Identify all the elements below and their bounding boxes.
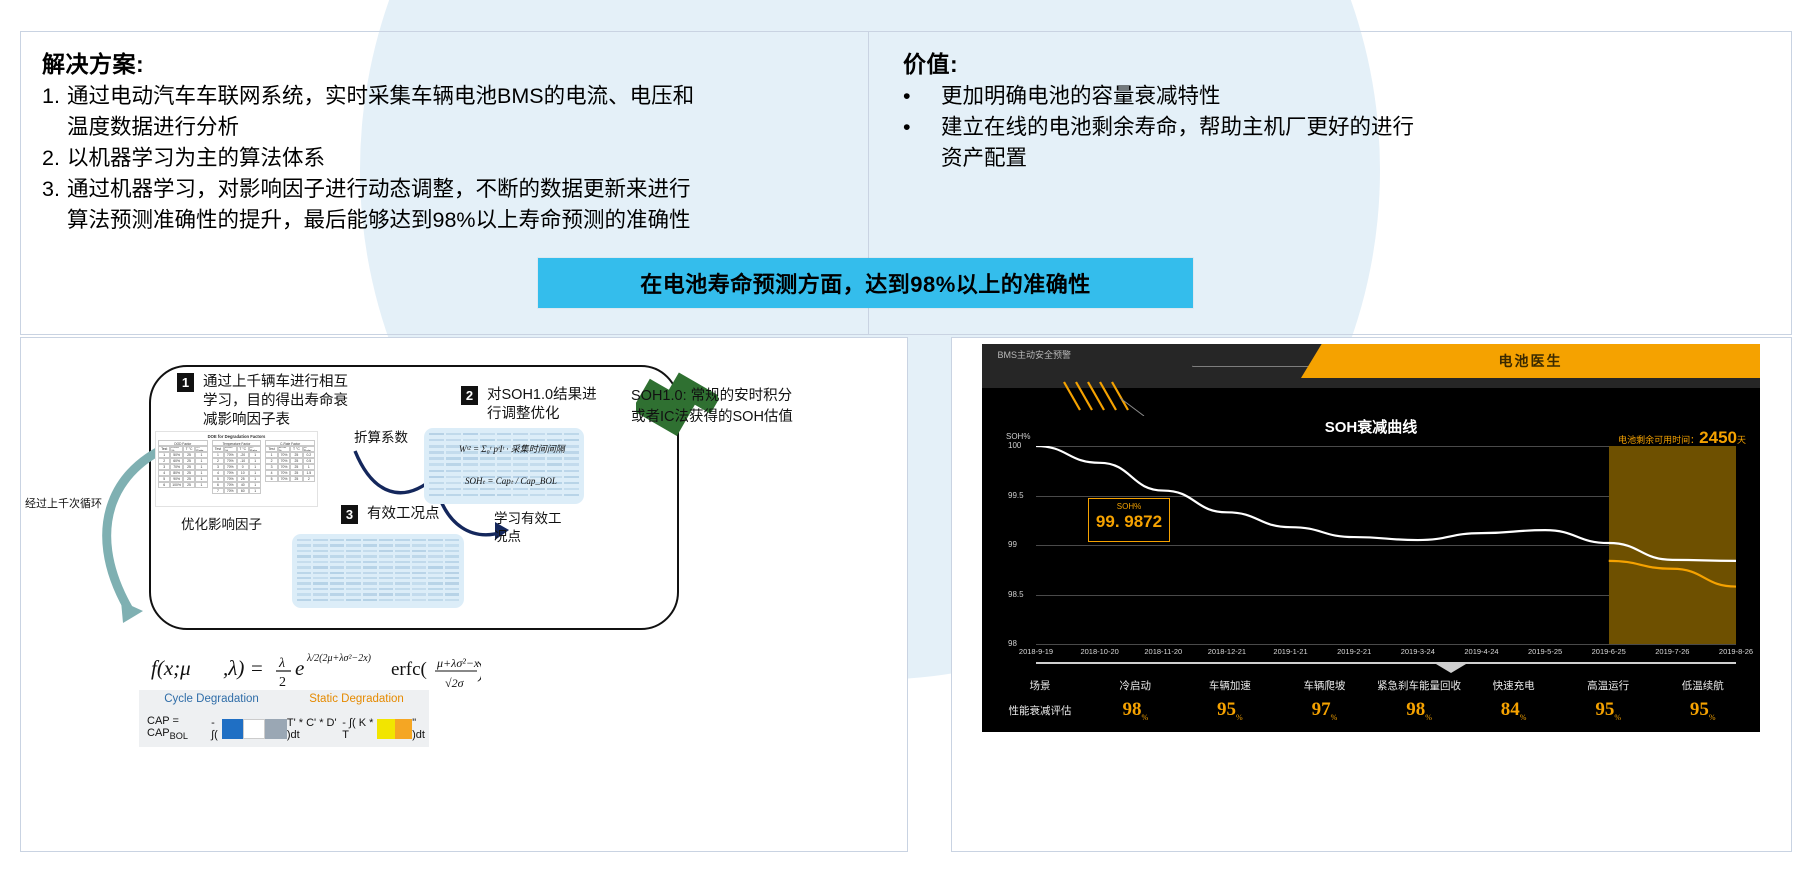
grid-cell <box>547 470 562 472</box>
step-text: 对SOH1.0结果进 行调整优化 <box>487 386 597 424</box>
table-cell: 98% <box>1372 697 1467 722</box>
grid-cell <box>297 599 311 601</box>
grid-cell <box>379 561 393 563</box>
table-header-cell: 紧急刹车能量回收 <box>1372 674 1467 697</box>
label-learn-points: 学习有效工 况点 <box>494 510 562 546</box>
table-value-row: 性能衰减评估98%95%97%98%84%95%95% <box>992 697 1750 722</box>
grid-cell <box>297 572 311 574</box>
line: 或者IC法获得的SOH估值 <box>631 409 793 425</box>
grid-cell <box>395 593 409 595</box>
grid-cell <box>297 566 311 568</box>
grid-cell <box>513 470 528 472</box>
grid-cell <box>346 550 360 552</box>
soh-decay-plot: SOH% 10099.59998.598 SOH% 99. 9872 <box>1036 446 1736 644</box>
line: SOH1.0: 常规的安时积分 <box>631 388 792 404</box>
grid-cell <box>429 470 444 472</box>
grid-cell <box>446 433 461 435</box>
grid-cell <box>379 582 393 584</box>
table-header-cell: 高温运行 <box>1561 674 1656 697</box>
grid-cell <box>346 539 360 541</box>
grid-cell <box>379 572 393 574</box>
tooltip-value: 99. 9872 <box>1089 511 1169 533</box>
grid-cell <box>530 463 545 465</box>
table-body: DOD FactorTestDOD %T °CC-Rate150%251260%… <box>156 439 317 495</box>
line: 通过电动汽车车联网系统，实时采集车辆电池BMS的电流、电压和 <box>67 84 694 108</box>
grid-cell <box>313 566 327 568</box>
label-soh10-note: SOH1.0: 常规的安时积分 或者IC法获得的SOH估值 <box>631 386 793 428</box>
grid-cell <box>429 445 444 447</box>
grid-cell <box>313 572 327 574</box>
table-cell: 60 <box>237 488 249 494</box>
grid-cell <box>363 582 377 584</box>
grid-cell <box>429 451 444 453</box>
table-row: 770%601 <box>212 488 262 494</box>
remaining-unit: 天 <box>1737 435 1746 445</box>
grid-cell <box>429 494 444 496</box>
grid-cell <box>428 577 442 579</box>
grid-cell <box>428 555 442 557</box>
table-cell: 100% <box>170 482 182 488</box>
solution-list: 1. 通过电动汽车车联网系统，实时采集车辆电池BMS的电流、电压和 温度数据进行… <box>42 81 868 236</box>
x-tick-label: 2019-5-25 <box>1528 647 1562 656</box>
value-column: 价值: • 更加明确电池的容量衰减特性 • 建立在线的电池剩余寿命，帮助主机厂更… <box>869 32 1793 174</box>
table-row <box>297 539 459 543</box>
score-unit: % <box>1614 713 1621 722</box>
grid-cell <box>445 582 459 584</box>
grid-cell <box>428 593 442 595</box>
series-line <box>1609 561 1736 587</box>
score-unit: % <box>1709 713 1716 722</box>
grid-cell <box>313 582 327 584</box>
grid-cell <box>480 463 495 465</box>
bullet-icon: • <box>903 112 941 174</box>
label-loop-count: 经过上千次循环 <box>25 495 102 511</box>
grid-cell <box>446 494 461 496</box>
line: 温度数据进行分析 <box>67 115 239 139</box>
grid-cell <box>513 433 528 435</box>
grid-cell <box>564 494 579 496</box>
decorative-stripes-icon <box>1060 380 1170 416</box>
score-unit: % <box>1141 713 1148 722</box>
grid-cell <box>445 550 459 552</box>
svg-text:μ+λσ²−x: μ+λσ²−x <box>436 656 480 670</box>
cap-prefix: CAP = CAPBOL <box>139 715 211 741</box>
table-cell: 7 <box>212 488 224 494</box>
grid-cell <box>330 539 344 541</box>
score-value: 98 <box>1406 699 1425 720</box>
dashboard-panel: 电池全局数据 BMS主动安全预警 BMS系统参数分析 电池医生 SOH衰减曲线 … <box>951 337 1792 852</box>
line: 学习有效工 <box>494 511 562 526</box>
grid-cell <box>395 588 409 590</box>
svg-text:λ/2(2μ+λσ²−2x): λ/2(2μ+λσ²−2x) <box>306 653 372 664</box>
x-tick-label: 2019-1-21 <box>1273 647 1307 656</box>
grid-cell <box>480 488 495 490</box>
table-row <box>297 544 459 548</box>
subscript: BOL <box>170 732 188 742</box>
grid-cell <box>429 439 444 441</box>
grid-cell <box>297 544 311 546</box>
soh-tooltip: SOH% 99. 9872 <box>1088 498 1170 542</box>
grid-cell <box>446 463 461 465</box>
grid-cell <box>297 539 311 541</box>
grid-cell <box>363 550 377 552</box>
grid-cell <box>330 550 344 552</box>
swatch-blue <box>222 719 242 739</box>
line: 对SOH1.0结果进 <box>487 387 597 403</box>
cap-t1: T' * C' * D' )dt <box>287 717 342 741</box>
table-cell: 95% <box>1183 697 1278 722</box>
grid-cell <box>564 457 579 459</box>
x-tick-label: 2019-8-26 <box>1719 647 1753 656</box>
grid-cell <box>463 494 478 496</box>
grid-cell <box>363 544 377 546</box>
grid-cell <box>445 539 459 541</box>
gridline <box>1036 644 1736 645</box>
grid-cell <box>346 593 360 595</box>
grid-cell <box>297 582 311 584</box>
x-axis-notch <box>1036 662 1736 674</box>
score-value: 95 <box>1595 699 1614 720</box>
list-text: 建立在线的电池剩余寿命，帮助主机厂更好的进行 资产配置 <box>941 112 1793 174</box>
grid-cell <box>379 593 393 595</box>
grid-cell <box>412 572 426 574</box>
grid-cell <box>330 544 344 546</box>
cap-mid: - ∫( <box>211 717 222 741</box>
grid-cell <box>297 577 311 579</box>
diagram-step-2: 2 对SOH1.0结果进 行调整优化 <box>461 386 597 424</box>
grid-cell <box>330 572 344 574</box>
x-tick-label: 2018-9-19 <box>1019 647 1053 656</box>
cap-t3: '' )dt <box>412 717 429 741</box>
grid-cell <box>445 544 459 546</box>
doe-factor-table: DOE for Degradation Factors DOD FactorTe… <box>155 431 318 507</box>
methodology-diagram-panel: 1 通过上千辆车进行相互 学习，目的得出寿命衰 减影响因子表 DOE for D… <box>20 337 908 852</box>
grid-cell <box>363 599 377 601</box>
grid-cell <box>429 463 444 465</box>
grid-cell <box>445 577 459 579</box>
grid-cell <box>313 539 327 541</box>
list-text: 通过机器学习，对影响因子进行动态调整，不断的数据更新来进行 算法预测准确性的提升… <box>67 174 868 236</box>
step-text: 通过上千辆车进行相互 学习，目的得出寿命衰 减影响因子表 <box>203 373 348 430</box>
grid-cell <box>363 555 377 557</box>
cycle-degradation-label: Cycle Degradation <box>139 690 284 710</box>
list-number: 2. <box>42 143 67 174</box>
table-cell: 1 <box>195 482 207 488</box>
step-text: 有效工况点 <box>367 505 440 524</box>
list-text: 以机器学习为主的算法体系 <box>67 143 868 174</box>
step-badge: 3 <box>341 505 358 524</box>
line: 算法预测准确性的提升，最后能够达到98%以上寿命预测的准确性 <box>67 208 691 232</box>
grid-cell <box>412 588 426 590</box>
grid-cell <box>395 555 409 557</box>
solution-title: 解决方案: <box>42 45 868 79</box>
table-row <box>297 577 459 581</box>
table-row <box>297 555 459 559</box>
table-row <box>297 582 459 586</box>
table-row <box>297 572 459 576</box>
banner-text: 在电池寿命预测方面，达到98%以上的准确性 <box>640 267 1091 299</box>
grid-cell <box>395 539 409 541</box>
step-badge: 2 <box>461 386 478 405</box>
x-tick-label: 2019-7-26 <box>1655 647 1689 656</box>
grid-cell <box>564 451 579 453</box>
grid-cell <box>480 470 495 472</box>
tab-battery-doctor[interactable]: 电池医生 <box>1301 344 1760 378</box>
list-number: 3. <box>42 174 67 236</box>
table-caption: DOE for Degradation Factors <box>156 432 317 439</box>
cap-headers: Cycle Degradation Static Degradation <box>139 690 429 710</box>
value-list: • 更加明确电池的容量衰减特性 • 建立在线的电池剩余寿命，帮助主机厂更好的进行… <box>903 81 1793 174</box>
grid-cell <box>445 599 459 601</box>
score-unit: % <box>1520 713 1527 722</box>
cap-degradation-formula: Cycle Degradation Static Degradation CAP… <box>139 690 429 747</box>
grid-cell <box>395 561 409 563</box>
y-tick-label: 99 <box>1008 540 1017 549</box>
x-tick-label: 2018-11-20 <box>1144 647 1182 656</box>
table-cell: 70% <box>278 476 290 482</box>
grid-cell <box>445 593 459 595</box>
data-grid <box>297 539 459 603</box>
soh-calc-panel <box>424 428 584 504</box>
table-row <box>297 561 459 565</box>
line: 况点 <box>494 529 521 544</box>
grid-cell <box>346 588 360 590</box>
grid-cell <box>313 577 327 579</box>
diagram-canvas: 1 通过上千辆车进行相互 学习，目的得出寿命衰 减影响因子表 DOE for D… <box>21 338 907 851</box>
grid-cell <box>429 488 444 490</box>
grid-cell <box>346 566 360 568</box>
grid-cell <box>547 433 562 435</box>
grid-cell <box>497 457 512 459</box>
grid-cell <box>297 550 311 552</box>
y-tick-label: 98 <box>1008 639 1017 648</box>
grid-cell <box>530 470 545 472</box>
bullet-icon: • <box>903 81 941 112</box>
grid-cell <box>513 494 528 496</box>
score-unit: % <box>1425 713 1432 722</box>
grid-cell <box>530 433 545 435</box>
svg-text:f(x;μ: f(x;μ <box>151 656 191 680</box>
grid-cell <box>564 488 579 490</box>
grid-cell <box>330 599 344 601</box>
grid-cell <box>428 550 442 552</box>
grid-cell <box>379 577 393 579</box>
grid-cell <box>395 544 409 546</box>
table-group: C-Rate FactorTestDOD %T °CC-Rate170%250.… <box>265 440 315 494</box>
grid-cell <box>428 561 442 563</box>
table-row <box>429 470 579 475</box>
highlight-banner: 在电池寿命预测方面，达到98%以上的准确性 <box>538 258 1193 308</box>
grid-cell <box>564 470 579 472</box>
grid-cell <box>313 593 327 595</box>
grid-cell <box>547 494 562 496</box>
grid-cell <box>445 566 459 568</box>
list-item: 1. 通过电动汽车车联网系统，实时采集车辆电池BMS的电流、电压和 温度数据进行… <box>42 81 868 143</box>
grid-cell <box>412 582 426 584</box>
line: 行调整优化 <box>487 406 560 422</box>
grid-cell <box>330 577 344 579</box>
table-cell: 98% <box>1088 697 1183 722</box>
value-title: 价值: <box>903 45 1793 79</box>
table-row <box>297 599 459 603</box>
grid-cell <box>530 457 545 459</box>
table-row: 6100%251 <box>158 482 208 488</box>
line: 减影响因子表 <box>203 412 290 428</box>
grid-cell <box>363 561 377 563</box>
grid-cell <box>395 582 409 584</box>
grid-cell <box>412 566 426 568</box>
table-row-label: 性能衰减评估 <box>992 697 1088 722</box>
grid-cell <box>297 588 311 590</box>
table-row-label: 场景 <box>992 674 1088 697</box>
table-cell: 95% <box>1561 697 1656 722</box>
grid-cell <box>513 457 528 459</box>
grid-cell <box>412 577 426 579</box>
grid-cell <box>313 599 327 601</box>
swatch-gray <box>265 719 287 739</box>
grid-cell <box>428 572 442 574</box>
cap-formula-row: CAP = CAPBOL - ∫( T' * C' * D' )dt - ∫( … <box>139 710 429 747</box>
line: 资产配置 <box>941 146 1027 170</box>
grid-cell <box>297 561 311 563</box>
table-row <box>297 593 459 597</box>
grid-cell <box>363 577 377 579</box>
grid-cell <box>497 433 512 435</box>
grid-cell <box>513 463 528 465</box>
score-value: 95 <box>1690 699 1709 720</box>
list-text: 更加明确电池的容量衰减特性 <box>941 81 1793 112</box>
table-row <box>429 494 579 499</box>
grid-cell <box>530 488 545 490</box>
cap-t2: - ∫( K * T <box>342 717 376 741</box>
grid-cell <box>412 550 426 552</box>
grid-cell <box>446 457 461 459</box>
grid-cell <box>463 488 478 490</box>
solution-column: 解决方案: 1. 通过电动汽车车联网系统，实时采集车辆电池BMS的电流、电压和 … <box>21 32 868 236</box>
table-cell: 84% <box>1466 697 1561 722</box>
grid-cell <box>395 550 409 552</box>
grid-cell <box>379 555 393 557</box>
table-header-cell: 快速充电 <box>1466 674 1561 697</box>
grid-cell <box>363 572 377 574</box>
x-tick-label: 2019-4-24 <box>1464 647 1498 656</box>
grid-cell <box>446 476 461 478</box>
score-value: 98 <box>1122 699 1141 720</box>
grid-cell <box>330 555 344 557</box>
grid-cell <box>480 494 495 496</box>
grid-cell <box>446 488 461 490</box>
y-axis-title: SOH% <box>1006 432 1030 441</box>
x-tick-label: 2019-3-24 <box>1401 647 1435 656</box>
table-row: 570%252 <box>265 476 315 482</box>
grid-cell <box>379 550 393 552</box>
score-unit: % <box>1331 713 1338 722</box>
diagram-step-3: 3 有效工况点 <box>341 505 440 524</box>
svg-text:√2σ: √2σ <box>445 676 465 690</box>
grid-cell <box>395 566 409 568</box>
grid-cell <box>395 572 409 574</box>
score-unit: % <box>1236 713 1243 722</box>
score-value: 95 <box>1217 699 1236 720</box>
y-tick-label: 99.5 <box>1008 491 1024 500</box>
table-header-cell: 低温续航 <box>1655 674 1750 697</box>
grid-cell <box>346 582 360 584</box>
list-item: • 更加明确电池的容量衰减特性 <box>903 81 1793 112</box>
y-tick-label: 100 <box>1008 441 1021 450</box>
grid-cell <box>297 593 311 595</box>
grid-cell <box>513 488 528 490</box>
soh-formula: SOHₜ = Capₜ / Cap_BOL <box>465 476 557 487</box>
line: 通过机器学习，对影响因子进行动态调整，不断的数据更新来进行 <box>67 177 691 201</box>
table-row <box>429 433 579 438</box>
table-cell: 6 <box>158 482 170 488</box>
grid-cell <box>547 457 562 459</box>
grid-cell <box>363 566 377 568</box>
table-row <box>297 588 459 592</box>
grid-cell <box>497 463 512 465</box>
grid-cell <box>330 561 344 563</box>
grid-cell <box>564 482 579 484</box>
tab-bms-safety[interactable]: BMS主动安全预警 <box>998 348 1072 361</box>
grid-cell <box>379 539 393 541</box>
list-item: • 建立在线的电池剩余寿命，帮助主机厂更好的进行 资产配置 <box>903 112 1793 174</box>
grid-cell <box>363 588 377 590</box>
grid-cell <box>446 470 461 472</box>
line: 学习，目的得出寿命衰 <box>203 393 348 409</box>
grid-cell <box>346 572 360 574</box>
grid-cell <box>564 445 579 447</box>
table-cell: 1 <box>249 488 261 494</box>
svg-text:λ: λ <box>278 656 285 671</box>
grid-cell <box>330 566 344 568</box>
table-header-row: 场景冷启动车辆加速车辆爬坡紧急刹车能量回收快速充电高温运行低温续航 <box>992 674 1750 697</box>
list-item: 2. 以机器学习为主的算法体系 <box>42 143 868 174</box>
grid-cell <box>530 494 545 496</box>
list-number: 1. <box>42 81 67 143</box>
grid-cell <box>480 457 495 459</box>
table-row <box>429 488 579 493</box>
table-cell: 5 <box>265 476 277 482</box>
grid-cell <box>463 470 478 472</box>
grid-cell <box>330 588 344 590</box>
grid-cell <box>564 463 579 465</box>
table-cell: 25 <box>183 482 195 488</box>
grid-cell <box>346 561 360 563</box>
grid-cell <box>446 482 461 484</box>
grid-cell <box>346 599 360 601</box>
grid-cell <box>412 555 426 557</box>
grid-cell <box>428 588 442 590</box>
grid-cell <box>395 577 409 579</box>
grid-cell <box>445 572 459 574</box>
grid-cell <box>480 433 495 435</box>
table-cell: 2 <box>303 476 315 482</box>
weight-formula: Wᵗ² = Σ₀ᵗ pᵗIᵗ · 采集时间间隔 <box>459 442 565 455</box>
grid-cell <box>313 544 327 546</box>
x-axis-labels: 2018-9-192018-10-202018-11-202018-12-212… <box>1036 647 1736 663</box>
list-text: 通过电动汽车车联网系统，实时采集车辆电池BMS的电流、电压和 温度数据进行分析 <box>67 81 868 143</box>
table-header-cell: 冷启动 <box>1088 674 1183 697</box>
scenario-assessment-table: 场景冷启动车辆加速车辆爬坡紧急刹车能量回收快速充电高温运行低温续航 性能衰减评估… <box>992 674 1750 730</box>
table-group: Temperature FactorTestDOD %T °CC-Rate170… <box>212 440 262 494</box>
grid-cell <box>463 433 478 435</box>
grid-cell <box>463 463 478 465</box>
grid-cell <box>346 555 360 557</box>
table-group: DOD FactorTestDOD %T °CC-Rate150%251260%… <box>158 440 208 494</box>
list-item: 3. 通过机器学习，对影响因子进行动态调整，不断的数据更新来进行 算法预测准确性… <box>42 174 868 236</box>
tooltip-label: SOH% <box>1089 499 1169 511</box>
line: 建立在线的电池剩余寿命，帮助主机厂更好的进行 <box>941 115 1414 139</box>
